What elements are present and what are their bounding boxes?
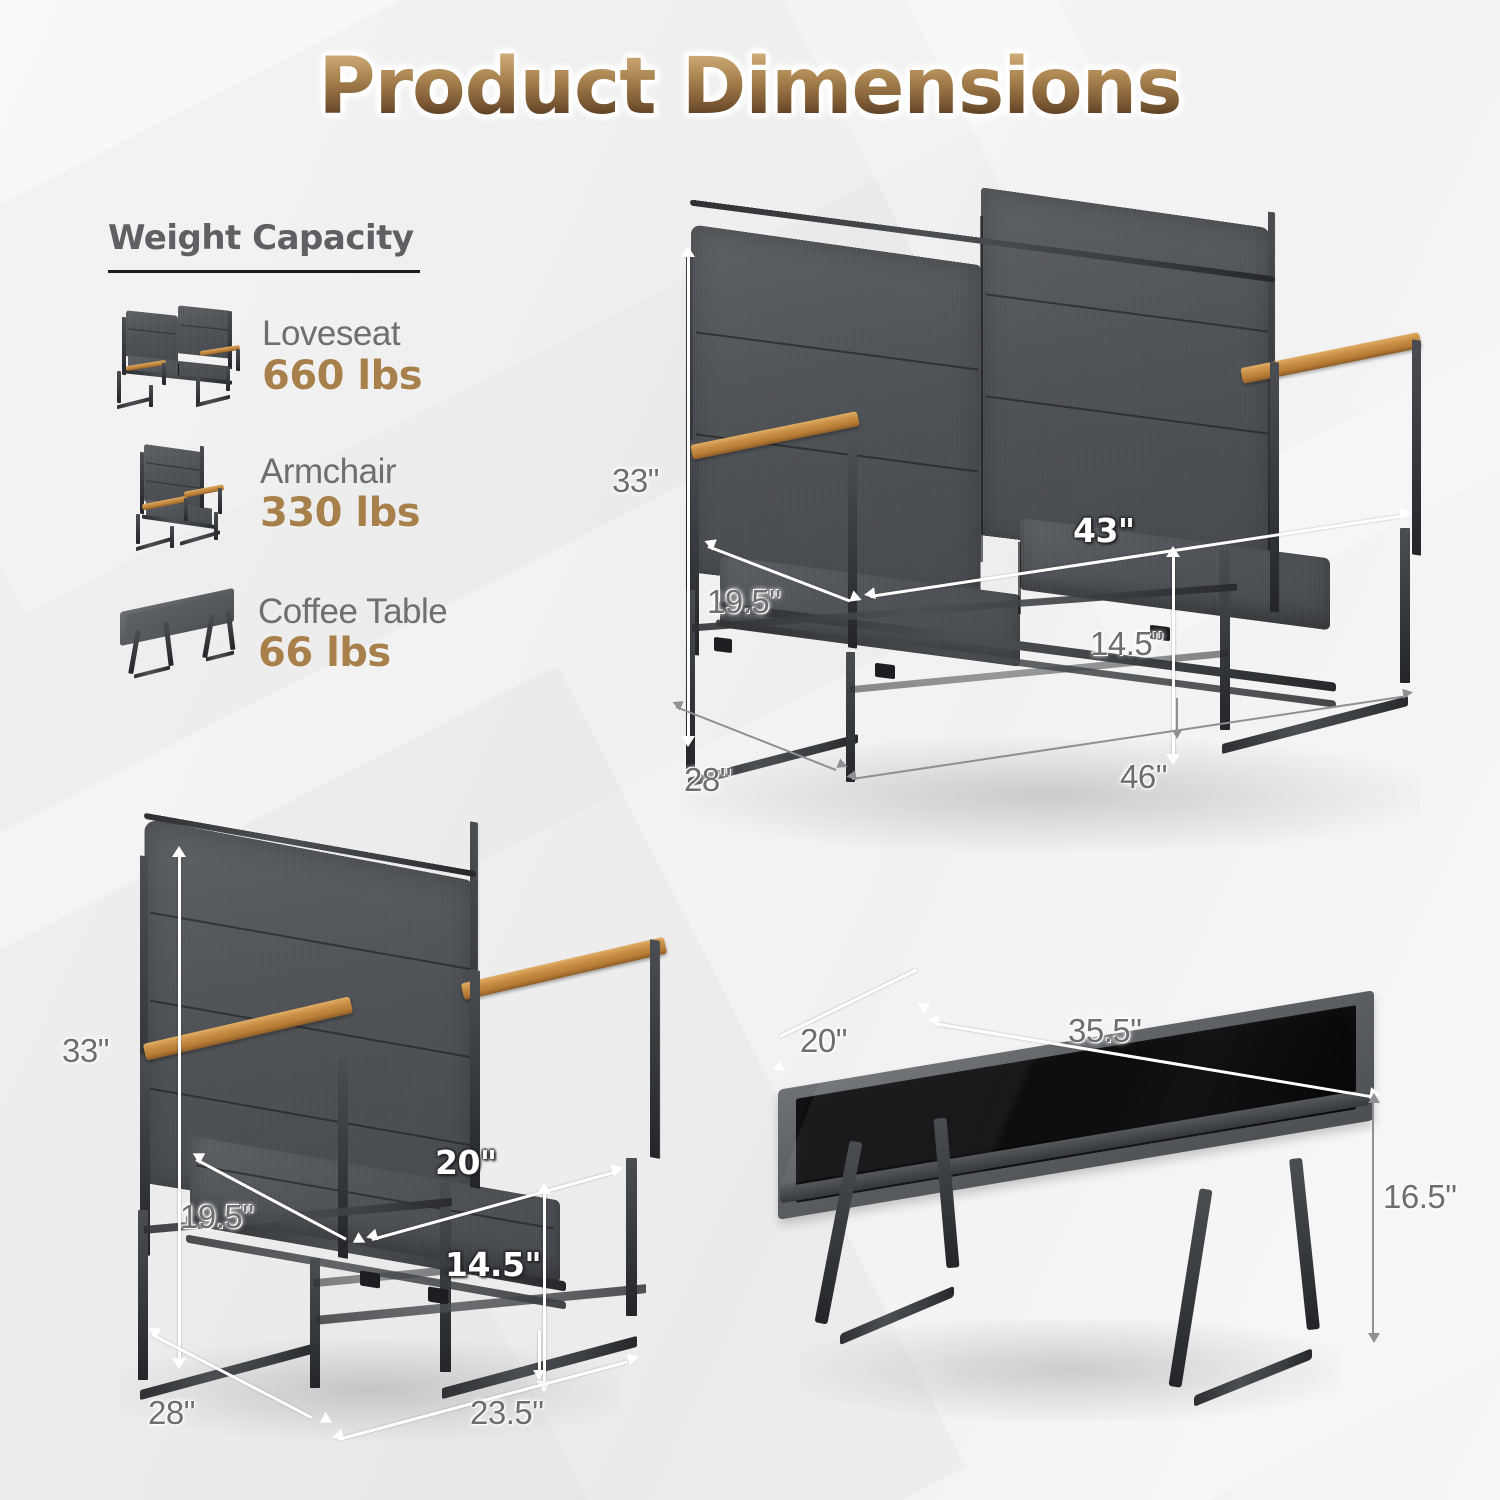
coffee-table-illustration bbox=[770, 1020, 1390, 1420]
armchair-height-label: 33" bbox=[62, 1032, 109, 1070]
weight-value-loveseat: 660 lbs bbox=[262, 353, 422, 399]
loveseat-height-line bbox=[687, 253, 690, 743]
armchair-width-tick-arrow bbox=[533, 1370, 545, 1380]
coffee-table-depth-arrow-end bbox=[918, 998, 933, 1014]
armchair-height-arrow-bottom bbox=[172, 1358, 186, 1369]
loveseat-thumbnail-icon bbox=[104, 305, 244, 410]
loveseat-seat-width-arrow-right bbox=[1399, 506, 1412, 520]
loveseat-seat-width-label: 43" bbox=[1073, 511, 1135, 550]
loveseat-width-arrow-left bbox=[845, 770, 856, 781]
loveseat-seat-height-arrow-bottom bbox=[1166, 754, 1180, 765]
armchair-seat-height-label: 14.5" bbox=[445, 1245, 541, 1284]
loveseat-depth-label: 28" bbox=[684, 761, 731, 799]
armchair-width-label: 23.5" bbox=[470, 1394, 543, 1432]
loveseat-height-arrow-top bbox=[681, 246, 695, 257]
weight-label-loveseat: Loveseat bbox=[262, 316, 422, 353]
loveseat-seat-width-arrow-left bbox=[863, 587, 876, 601]
weight-value-coffee-table: 66 lbs bbox=[258, 630, 447, 676]
infographic-canvas: Product Dimensions Weight Capacity bbox=[0, 0, 1500, 1500]
loveseat-width-tick bbox=[1176, 698, 1178, 734]
loveseat-width-tick-arrow bbox=[1172, 730, 1182, 739]
coffee-table-height-line bbox=[1372, 1100, 1374, 1340]
coffee-table-leg-back-right bbox=[1289, 1158, 1320, 1330]
loveseat-arm-post-right bbox=[1270, 361, 1279, 612]
coffee-table-height-arrow-bottom bbox=[1368, 1333, 1380, 1343]
coffee-table-leg-front-right bbox=[1168, 1188, 1212, 1388]
armchair-depth-label: 28" bbox=[148, 1394, 195, 1432]
weight-capacity-divider bbox=[108, 270, 420, 273]
coffee-table-width-arrow-left bbox=[927, 1013, 940, 1027]
loveseat-illustration bbox=[660, 190, 1460, 840]
weight-row-armchair: Armchair 330 lbs bbox=[118, 440, 420, 550]
armchair-width-arrow-left bbox=[331, 1429, 345, 1443]
weight-text-coffee-table: Coffee Table 66 lbs bbox=[258, 594, 447, 677]
armchair-illustration bbox=[110, 820, 670, 1430]
loveseat-seat-height-label: 14.5" bbox=[1090, 625, 1163, 663]
weight-value-armchair: 330 lbs bbox=[260, 490, 420, 536]
armchair-seat-depth-label: 19.5" bbox=[180, 1198, 253, 1236]
coffee-table-crossbar-left bbox=[840, 1286, 954, 1345]
page-title: Product Dimensions bbox=[318, 48, 1181, 126]
loveseat-seat-depth-label: 19.5" bbox=[707, 583, 780, 621]
weight-capacity-panel: Weight Capacity bbox=[108, 218, 538, 273]
armchair-armrest-right bbox=[461, 937, 667, 1000]
armchair-seat-width-label: 20" bbox=[435, 1143, 497, 1182]
weight-row-coffee-table: Coffee Table 66 lbs bbox=[110, 586, 447, 684]
loveseat-height-arrow-bottom bbox=[681, 736, 695, 747]
armchair-seat-height-arrow-top bbox=[537, 1183, 551, 1194]
page-title-wrapper: Product Dimensions bbox=[0, 48, 1500, 126]
coffee-table-width-label: 35.5" bbox=[1068, 1012, 1141, 1050]
weight-label-coffee-table: Coffee Table bbox=[258, 594, 447, 631]
loveseat-width-label: 46" bbox=[1120, 758, 1167, 796]
loveseat-seat-height-arrow-top bbox=[1166, 546, 1180, 557]
coffee-table-crossbar-right bbox=[1194, 1348, 1312, 1407]
weight-text-loveseat: Loveseat 660 lbs bbox=[262, 316, 422, 399]
weight-label-armchair: Armchair bbox=[260, 454, 420, 491]
armchair-height-line bbox=[178, 853, 181, 1365]
coffee-table-thumbnail-icon bbox=[110, 586, 240, 684]
coffee-table-height-arrow-top bbox=[1368, 1093, 1380, 1103]
armchair-thumbnail-icon bbox=[118, 440, 238, 550]
armchair-seat-height-line bbox=[543, 1190, 546, 1388]
coffee-table-depth-label: 20" bbox=[800, 1022, 847, 1060]
weight-capacity-heading: Weight Capacity bbox=[108, 218, 538, 258]
coffee-table-height-label: 16.5" bbox=[1383, 1178, 1456, 1216]
loveseat-width-arrow-right bbox=[1402, 687, 1413, 698]
loveseat-height-label: 33" bbox=[612, 462, 659, 500]
weight-row-loveseat: Loveseat 660 lbs bbox=[104, 305, 422, 410]
armchair-height-arrow-top bbox=[172, 846, 186, 857]
weight-text-armchair: Armchair 330 lbs bbox=[260, 454, 420, 537]
